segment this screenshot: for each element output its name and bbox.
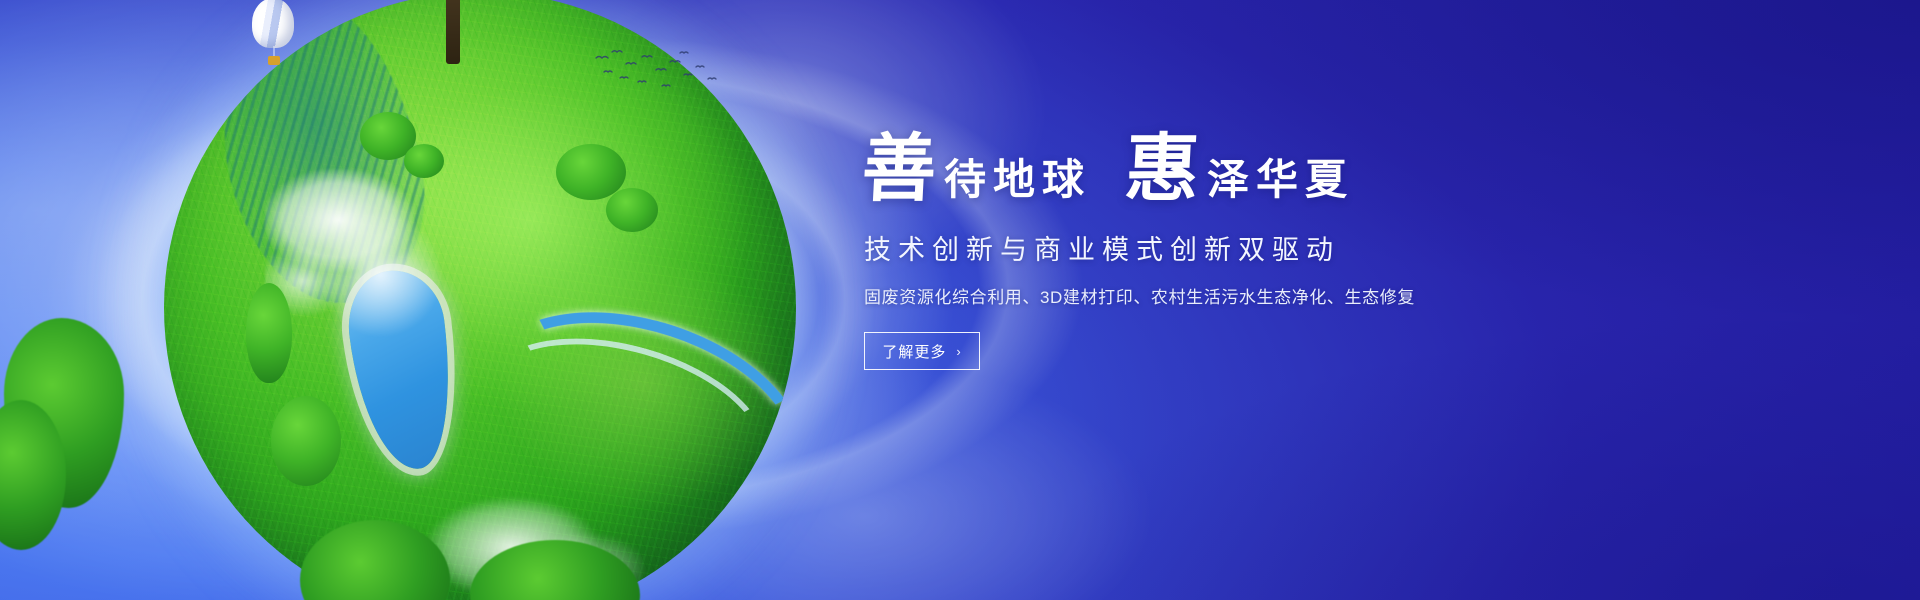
- balloon-basket: [268, 56, 280, 65]
- headline-lead-char-2: 惠: [1123, 132, 1201, 206]
- headline-phrase-1: 善 待地球: [862, 132, 1091, 206]
- hot-air-balloon-icon: [252, 0, 296, 68]
- hero-banner: 善 待地球 惠 泽华夏 技术创新与商业模式创新双驱动 固废资源化综合利用、3D建…: [0, 0, 1920, 600]
- tree-icon: [338, 0, 568, 44]
- headline-rest-1: 待地球: [944, 159, 1091, 206]
- hero-content: 善 待地球 惠 泽华夏 技术创新与商业模式创新双驱动 固废资源化综合利用、3D建…: [862, 132, 1502, 370]
- headline-lead-char-1: 善: [860, 132, 938, 206]
- balloon-envelope: [252, 0, 294, 48]
- learn-more-button[interactable]: 了解更多 ›: [864, 332, 980, 370]
- flying-birds-icon: [592, 48, 722, 94]
- headline-rest-2: 泽华夏: [1207, 159, 1354, 206]
- tree-trunk: [446, 0, 460, 64]
- learn-more-label: 了解更多: [882, 341, 946, 362]
- headline: 善 待地球 惠 泽华夏: [862, 132, 1502, 206]
- subtitle: 技术创新与商业模式创新双驱动: [864, 228, 1502, 267]
- headline-phrase-2: 惠 泽华夏: [1125, 132, 1354, 206]
- description: 固废资源化综合利用、3D建材打印、农村生活污水生态净化、生态修复: [864, 283, 1502, 308]
- chevron-right-icon: ›: [956, 345, 961, 358]
